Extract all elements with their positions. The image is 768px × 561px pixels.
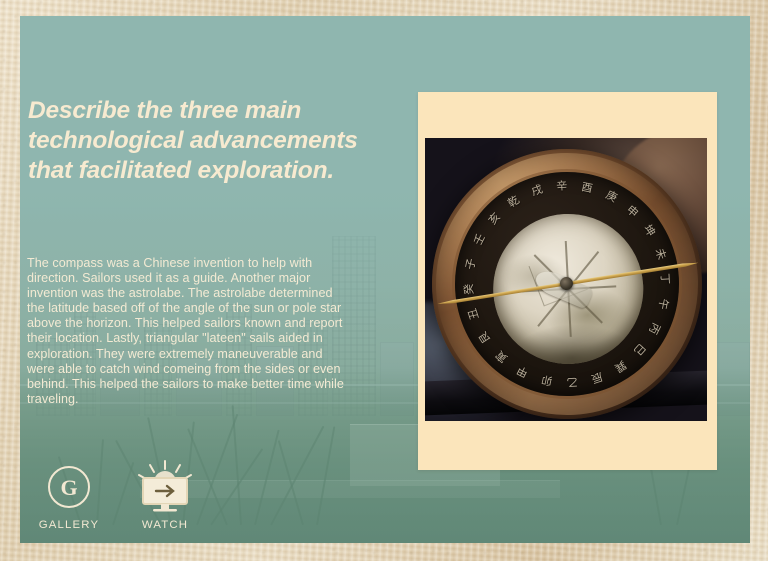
presentation-slide: Describe the three main technological ad… (0, 0, 768, 561)
photo-frame-mat[interactable]: 辛酉庚申坤未丁午丙巳巽辰乙卯甲寅艮丑癸子壬亥乾戌 (418, 92, 717, 470)
gallery-circle-g-icon: G (46, 459, 92, 515)
page-title: Describe the three main technological ad… (28, 96, 358, 186)
body-paragraph: The compass was a Chinese invention to h… (27, 256, 352, 407)
watch-button-label: WATCH (142, 519, 188, 531)
bottom-nav-bar: G GALLERY (32, 459, 202, 531)
gallery-button-label: GALLERY (39, 519, 99, 531)
watch-button[interactable]: WATCH (128, 459, 202, 531)
compass-photograph: 辛酉庚申坤未丁午丙巳巽辰乙卯甲寅艮丑癸子壬亥乾戌 (425, 138, 707, 421)
watch-monitor-arrow-icon (134, 459, 196, 515)
slide-canvas: Describe the three main technological ad… (20, 16, 750, 543)
svg-text:G: G (60, 475, 77, 500)
gallery-button[interactable]: G GALLERY (32, 459, 106, 531)
